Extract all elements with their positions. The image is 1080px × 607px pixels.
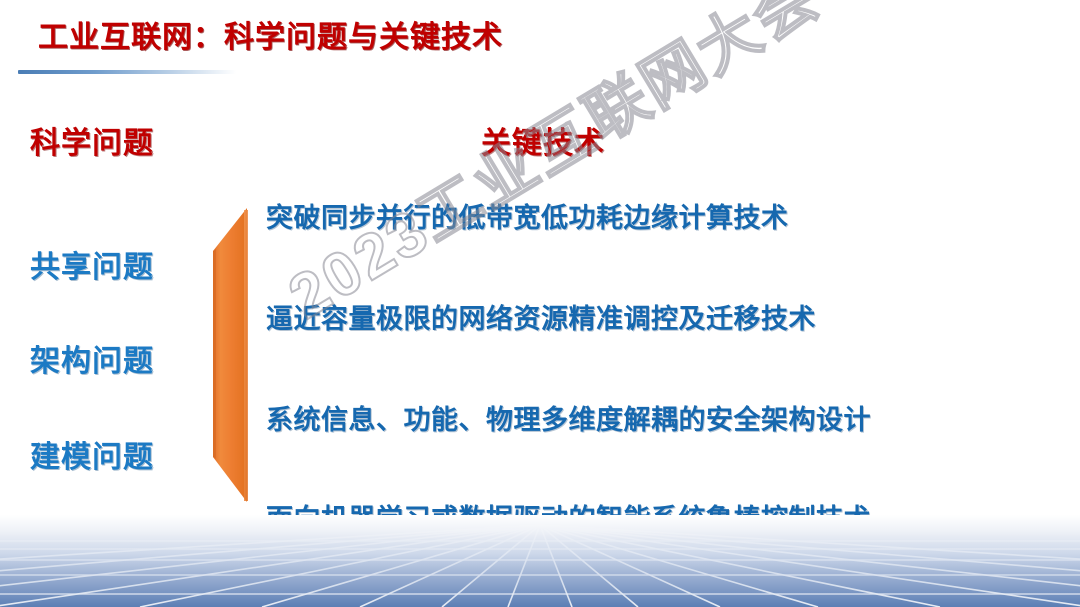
key-technologies-heading: 关键技术	[481, 118, 605, 162]
right-arrow-icon	[205, 195, 261, 515]
science-problem-item: 建模问题	[30, 432, 154, 476]
orange-arrow-connector	[205, 195, 261, 515]
page-title: 工业互联网：科学问题与关键技术	[38, 18, 503, 58]
key-technology-item: 面向机器学习或数据驱动的智能系统鲁棒控制技术	[266, 497, 871, 536]
science-problem-item: 共享问题	[30, 242, 154, 286]
title-underline-rule	[18, 70, 236, 74]
science-problem-item: 架构问题	[30, 336, 154, 380]
key-technology-item: 突破同步并行的低带宽低功耗边缘计算技术	[266, 196, 789, 235]
key-technology-item: 系统信息、功能、物理多维度解耦的安全架构设计	[266, 398, 871, 437]
slide-canvas: 工业互联网：科学问题与关键技术 科学问题 关键技术 共享问题 架构问题 建模问题	[0, 0, 1080, 607]
key-technology-item: 逼近容量极限的网络资源精准调控及迁移技术	[266, 297, 816, 336]
title-block: 工业互联网：科学问题与关键技术	[0, 18, 1080, 80]
science-problems-heading: 科学问题	[30, 118, 154, 162]
